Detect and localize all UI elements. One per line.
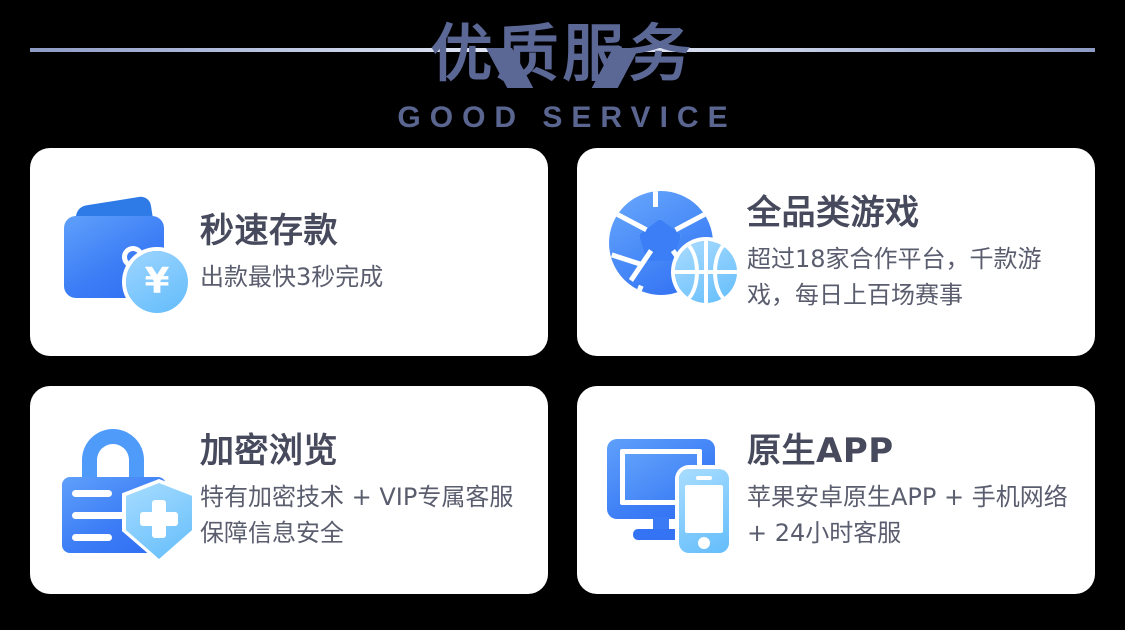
soccer-seam [629,249,653,282]
card-text: 秒速存款 出款最快3秒完成 [200,209,534,295]
service-card-native-app[interactable]: 原生APP 苹果安卓原生APP + 手机网络 + 24小时客服 [577,386,1095,594]
service-card-all-games[interactable]: 全品类游戏 超过18家合作平台，千款游戏，每日上百场赛事 [577,148,1095,356]
page-title: 优质服务 [0,0,1125,100]
card-text: 原生APP 苹果安卓原生APP + 手机网络 + 24小时客服 [747,429,1081,551]
card-text: 加密浏览 特有加密技术 + VIP专属客服保障信息安全 [200,429,534,551]
monitor-phone-icon [603,421,741,559]
basketball-icon [675,241,737,303]
basketball-curve [713,241,737,303]
card-heading: 全品类游戏 [747,191,1081,235]
page-subtitle: GOOD SERVICE [0,100,1125,136]
lock-slot [72,534,112,541]
basketball-curve [675,241,699,303]
phone-screen [685,485,723,533]
card-description: 特有加密技术 + VIP专属客服保障信息安全 [200,479,530,551]
lock-slot [72,490,112,497]
service-card-encrypted-browsing[interactable]: 加密浏览 特有加密技术 + VIP专属客服保障信息安全 [30,386,548,594]
service-card-grid: ¥ 秒速存款 出款最快3秒完成 [30,148,1095,594]
soccer-basketball-icon [603,183,741,321]
card-description: 超过18家合作平台，千款游戏，每日上百场赛事 [747,241,1077,313]
yen-coin-icon: ¥ [126,251,188,313]
phone-home-button [698,537,710,549]
phone-speaker [696,476,712,480]
soccer-seam [631,285,643,295]
card-description: 出款最快3秒完成 [200,259,534,295]
page-header: 优质服务 GOOD SERVICE [0,0,1125,145]
soccer-seam [611,252,641,266]
soccer-seam [653,191,658,207]
lock-slot [72,512,126,519]
service-card-instant-deposit[interactable]: ¥ 秒速存款 出款最快3秒完成 [30,148,548,356]
soccer-seam [674,207,713,232]
shield-plus-icon [140,512,178,526]
lock-shield-icon [56,421,194,559]
card-description: 苹果安卓原生APP + 手机网络 + 24小时客服 [747,479,1077,551]
soccer-seam [609,207,648,232]
card-heading: 秒速存款 [200,209,534,253]
smartphone-icon [679,469,729,553]
title-block: 优质服务 GOOD SERVICE [0,0,1125,136]
wallet-yen-coin-icon: ¥ [56,183,194,321]
card-heading: 原生APP [747,429,1081,473]
card-heading: 加密浏览 [200,429,534,473]
card-text: 全品类游戏 超过18家合作平台，千款游戏，每日上百场赛事 [747,191,1081,313]
